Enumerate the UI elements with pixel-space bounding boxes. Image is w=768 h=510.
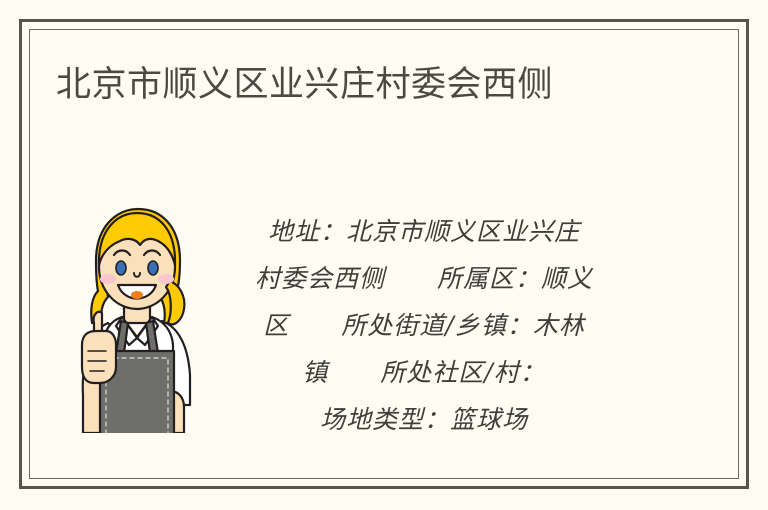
info-line-4: 镇 所处社区/村： [218,349,630,396]
page-title: 北京市顺义区业兴庄村委会西侧 [56,62,553,108]
tongue [131,291,143,299]
cartoon-girl-svg [74,205,202,433]
venue-info-block: 地址：北京市顺义区业兴庄 村委会西侧 所属区：顺义 区 所处街道/乡镇：木林 镇… [218,208,630,443]
cartoon-girl-illustration [74,205,202,433]
info-line-3: 区 所处街道/乡镇：木林 [218,302,630,349]
info-line-2: 村委会西侧 所属区：顺义 [218,255,630,302]
info-line-1: 地址：北京市顺义区业兴庄 [218,208,630,255]
info-line-5: 场地类型：篮球场 [218,396,630,443]
eye-left [116,261,126,275]
blush-left [100,274,116,284]
blush-right [158,274,174,284]
eye-right [148,261,158,275]
page-root: 北京市顺义区业兴庄村委会西侧 [0,0,768,510]
fist [82,331,116,383]
